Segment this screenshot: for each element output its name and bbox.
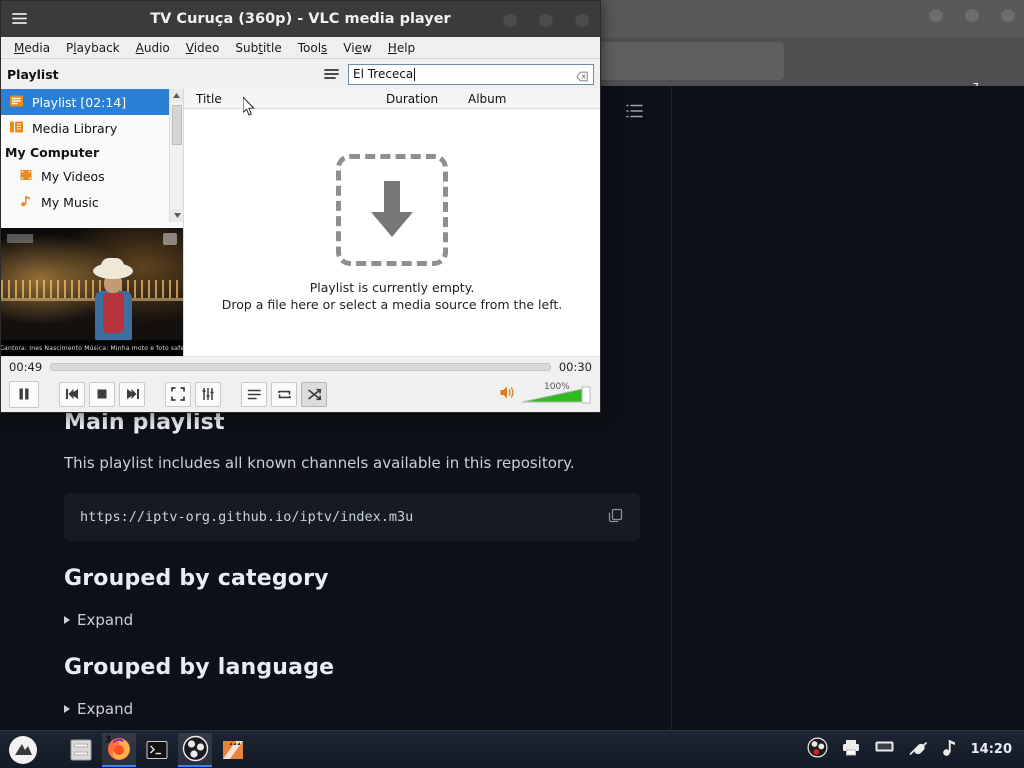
equalizer-button[interactable] xyxy=(195,382,221,407)
preview-watermark xyxy=(163,233,177,245)
menu-video[interactable]: Video xyxy=(179,39,227,57)
vlc-playlist-toolbar: Playlist El Trececa xyxy=(1,59,600,89)
control-row: 100% xyxy=(1,377,600,411)
preview-subject xyxy=(87,263,139,341)
sidebar-item-my-videos[interactable]: My Videos xyxy=(1,163,183,189)
network-tray-icon[interactable] xyxy=(908,739,928,761)
playlist-url-block: https://iptv-org.github.io/iptv/index.m3… xyxy=(64,493,640,541)
taskbar-separator xyxy=(44,733,60,767)
heading-grouped-by-category: Grouped by category xyxy=(64,566,329,591)
menu-view[interactable]: View xyxy=(336,39,379,57)
vlc-maximize-button[interactable] xyxy=(538,11,554,27)
pictures-folder-icon xyxy=(19,221,33,223)
vlc-window: TV Curuça (360p) - VLC media player Medi… xyxy=(0,0,601,413)
playlist-view-menu-icon[interactable] xyxy=(320,64,342,84)
next-button[interactable] xyxy=(119,382,145,407)
scroll-up-icon[interactable] xyxy=(170,89,183,102)
firefox-icon[interactable]: 3 xyxy=(102,733,136,767)
playlist-toggle-button[interactable] xyxy=(241,382,267,407)
empty-state-line1: Playlist is currently empty. xyxy=(310,280,475,295)
vlc-media-icon[interactable] xyxy=(216,733,250,767)
preview-subtitle-text: Cantora: Ines Nascimento Música: Minha m… xyxy=(1,340,183,356)
sidebar-group-header: My Computer xyxy=(1,141,183,163)
search-input-value: El Trececa xyxy=(353,67,413,81)
column-header-duration[interactable]: Duration xyxy=(386,92,468,106)
expand-language-label: Expand xyxy=(77,700,133,718)
heading-grouped-by-language: Grouped by language xyxy=(64,655,334,680)
mouse-cursor xyxy=(243,97,256,120)
sidebar-item-media-library-label: Media Library xyxy=(32,121,117,136)
display-tray-icon[interactable] xyxy=(874,739,895,760)
sidebar-item-playlist-label: Playlist [02:14] xyxy=(32,95,126,110)
loop-button[interactable] xyxy=(271,382,297,407)
vlc-window-title: TV Curuça (360p) - VLC media player xyxy=(150,11,450,27)
desktop: 7 Main playlist xyxy=(0,0,1024,768)
sidebar-item-playlist[interactable]: Playlist [02:14] xyxy=(1,89,183,115)
menu-playback[interactable]: Playback xyxy=(59,39,127,57)
scroll-down-icon[interactable] xyxy=(170,209,183,222)
chevron-right-icon xyxy=(64,616,70,624)
clear-search-icon[interactable] xyxy=(576,68,589,87)
playlist-description: This playlist includes all known channel… xyxy=(64,454,575,472)
obs-icon[interactable] xyxy=(178,733,212,767)
sidebar-item-media-library[interactable]: Media Library xyxy=(1,115,183,141)
playlist-url-text: https://iptv-org.github.io/iptv/index.m3… xyxy=(80,509,413,525)
media-source-list: Playlist [02:14] Media xyxy=(1,89,183,222)
media-library-icon xyxy=(9,120,24,137)
preview-shirt xyxy=(103,293,124,333)
terminal-icon[interactable] xyxy=(140,733,174,767)
scrollbar-thumb[interactable] xyxy=(172,105,182,145)
volume-control[interactable]: 100% xyxy=(499,384,592,404)
vlc-window-controls[interactable] xyxy=(502,11,590,27)
taskbar: 3 xyxy=(0,730,1024,768)
elapsed-time: 00:49 xyxy=(9,360,42,374)
videos-folder-icon xyxy=(19,168,33,185)
firefox-badge: 3 xyxy=(105,735,111,745)
playlist-pane: Title Duration Album Playlist is current… xyxy=(183,89,600,356)
obs-tray-icon[interactable] xyxy=(807,737,828,762)
app-launcher-icon[interactable] xyxy=(6,733,40,767)
sidebar-item-my-videos-label: My Videos xyxy=(41,169,105,184)
audio-tray-icon[interactable] xyxy=(941,738,958,761)
column-header-title[interactable]: Title xyxy=(184,92,386,106)
sidebar-item-partial[interactable] xyxy=(1,215,183,222)
column-header-album[interactable]: Album xyxy=(468,92,600,106)
menu-audio[interactable]: Audio xyxy=(129,39,177,57)
table-of-contents-icon[interactable] xyxy=(624,100,646,126)
seek-slider[interactable] xyxy=(50,363,551,371)
menu-help[interactable]: Help xyxy=(381,39,422,57)
copy-icon[interactable] xyxy=(607,507,624,528)
vlc-transport-bar: 00:49 00:30 xyxy=(1,356,600,412)
heading-main-playlist: Main playlist xyxy=(64,410,225,435)
sidebar-item-my-music-label: My Music xyxy=(41,195,99,210)
sidebar-scrollbar[interactable] xyxy=(169,89,183,222)
seek-row: 00:49 00:30 xyxy=(1,357,600,377)
vlc-sidebar: Playlist [02:14] Media xyxy=(1,89,183,356)
video-preview-thumbnail[interactable]: Cantora: Ines Nascimento Música: Minha m… xyxy=(1,228,183,356)
sidebar-item-my-music[interactable]: My Music xyxy=(1,189,183,215)
playlist-panel-label: Playlist xyxy=(7,67,59,82)
vlc-close-button[interactable] xyxy=(574,11,590,27)
empty-state-line2: Drop a file here or select a media sourc… xyxy=(222,297,563,312)
vlc-minimize-button[interactable] xyxy=(502,11,518,27)
menu-media[interactable]: Media xyxy=(7,39,57,57)
menu-tools[interactable]: Tools xyxy=(291,39,335,57)
stop-button[interactable] xyxy=(89,382,115,407)
shuffle-button[interactable] xyxy=(301,382,327,407)
preview-channel-bug xyxy=(7,234,33,243)
search-input[interactable]: El Trececa xyxy=(348,64,594,85)
text-caret xyxy=(414,68,415,81)
previous-button[interactable] xyxy=(59,382,85,407)
volume-slider[interactable]: 100% xyxy=(520,384,592,404)
vlc-menubar: Media Playback Audio Video Subtitle Tool… xyxy=(1,37,600,59)
taskbar-clock[interactable]: 14:20 xyxy=(971,742,1012,757)
pause-button[interactable] xyxy=(9,381,39,408)
fullscreen-button[interactable] xyxy=(165,382,191,407)
chevron-right-icon xyxy=(64,705,70,713)
taskbar-apps: 3 xyxy=(0,733,250,767)
playlist-empty-state: Playlist is currently empty. Drop a file… xyxy=(184,109,600,356)
firefox-close-button[interactable] xyxy=(1000,6,1016,22)
speaker-icon[interactable] xyxy=(499,385,516,404)
file-manager-icon[interactable] xyxy=(64,733,98,767)
expand-category-label: Expand xyxy=(77,611,133,629)
system-tray: 14:20 xyxy=(807,737,1024,762)
vlc-body: Playlist [02:14] Media xyxy=(1,89,600,356)
firefox-minimize-button[interactable] xyxy=(928,6,944,22)
preview-hat-crown xyxy=(101,258,124,271)
music-folder-icon xyxy=(19,194,33,211)
printer-tray-icon[interactable] xyxy=(841,738,861,761)
firefox-window-controls[interactable] xyxy=(928,6,1016,22)
expand-category-toggle[interactable]: Expand xyxy=(64,611,133,629)
vlc-titlebar: TV Curuça (360p) - VLC media player xyxy=(1,1,600,37)
menu-subtitle[interactable]: Subtitle xyxy=(228,39,288,57)
playlist-icon xyxy=(9,94,24,111)
vlc-menu-icon[interactable] xyxy=(11,11,28,30)
firefox-maximize-button[interactable] xyxy=(964,6,980,22)
drop-arrow-icon xyxy=(336,154,448,266)
expand-language-toggle[interactable]: Expand xyxy=(64,700,133,718)
remaining-time: 00:30 xyxy=(559,360,592,374)
page-side-rail xyxy=(602,86,672,730)
